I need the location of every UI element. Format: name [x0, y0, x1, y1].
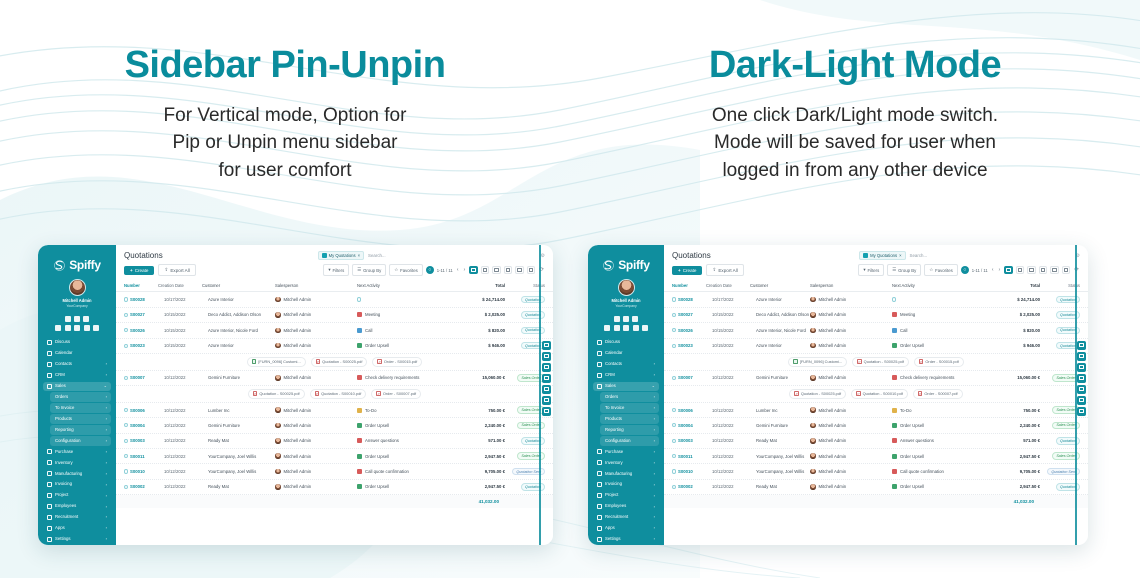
column-header-salesperson[interactable]: Salesperson — [810, 283, 892, 288]
table-row[interactable]: S00023 10/15/2022 Azure Interior Mitchel… — [664, 339, 1088, 354]
activity-view-icon[interactable] — [527, 266, 536, 274]
table-row[interactable]: S00007 10/12/2022 Gemini Furniture Mitch… — [116, 371, 553, 386]
filter-icon: ▾ — [863, 267, 865, 273]
cell-creation-date: 10/17/2022 — [712, 297, 756, 302]
attachment-chip[interactable]: P Order - S00015.pdf — [372, 357, 422, 367]
sidebar-item-crm[interactable]: CRM› — [43, 371, 111, 380]
next-activity-label: Check delivery requirements — [365, 375, 419, 380]
sidebar-item-project[interactable]: Project› — [43, 491, 111, 500]
sidebar-item-contacts[interactable]: Contacts› — [43, 360, 111, 369]
table-row[interactable]: S00028 10/17/2022 Azure Interior Mitchel… — [116, 292, 553, 307]
sidebar-item-recruitment[interactable]: Recruitment› — [593, 513, 659, 522]
cell-number[interactable]: S00003 — [678, 438, 712, 443]
cell-salesperson: Mitchell Admin — [275, 328, 357, 334]
invoicing-icon — [47, 482, 52, 487]
cell-number[interactable]: S00010 — [130, 469, 164, 474]
sidebar-item-manufacturing[interactable]: Manufacturing› — [593, 469, 659, 478]
salesperson-name: Mitchell Admin — [284, 343, 312, 348]
avatar — [810, 312, 816, 318]
table-row[interactable]: S00006 10/12/2022 Lumber Inc Mitchell Ad… — [664, 403, 1088, 418]
cell-status: Quotation — [1040, 296, 1080, 304]
home-icon[interactable] — [74, 316, 80, 322]
group-by-button[interactable]: ☰ Group By — [352, 264, 386, 276]
app-mockup-left: Spiffy Mitchell Admin YourCompany Discus… — [38, 245, 553, 545]
chevron-right-icon: › — [654, 372, 655, 378]
attachment-chip[interactable]: P Quotation - S00025.pdf — [789, 389, 846, 399]
search-area[interactable]: My Quotations × Search... — [318, 251, 386, 260]
cell-status: Sales Order — [1040, 452, 1080, 460]
sidebar-item-manufacturing[interactable]: Manufacturing› — [43, 469, 111, 478]
pager-toggle-button[interactable]: ○ — [961, 266, 969, 274]
pager-next-icon[interactable]: › — [463, 267, 467, 273]
avatar — [618, 279, 635, 296]
table-row[interactable]: S00011 10/12/2022 YourCompany, Joel Will… — [664, 449, 1088, 464]
apps-icon — [597, 526, 602, 531]
sidebar-item-to-invoice[interactable]: To Invoice› — [50, 403, 111, 412]
graph-view-icon[interactable] — [515, 266, 524, 274]
sidebar-item-recruitment[interactable]: Recruitment› — [43, 513, 111, 522]
print-rail-icon[interactable] — [1077, 374, 1086, 383]
user-company: YourCompany — [43, 304, 111, 309]
cell-total: $ 946.00 — [984, 343, 1040, 348]
salesperson-name: Mitchell Admin — [819, 312, 847, 317]
sidebar-item-orders[interactable]: Orders› — [600, 392, 659, 401]
quick-icons-row-1 — [593, 316, 659, 322]
salesperson-name: Mitchell Admin — [819, 328, 847, 333]
sidebar-item-project[interactable]: Project› — [593, 491, 659, 500]
apps-icon — [47, 526, 52, 531]
heading-block-left: Sidebar Pin-Unpin For Vertical mode, Opt… — [0, 0, 570, 215]
sidebar-item-invoicing[interactable]: Invoicing› — [43, 480, 111, 489]
avatar — [275, 375, 281, 381]
table-rail-icon[interactable] — [542, 385, 551, 394]
cell-status: Quotation — [1040, 342, 1080, 350]
attachment-chip[interactable]: P Quotation - S00025.pdf — [852, 357, 909, 367]
sidebar-item-purchase[interactable]: Purchase› — [593, 447, 659, 456]
attachment-chip[interactable]: P Order - S00007.pdf — [913, 389, 963, 399]
cell-next-activity: Order Upsell — [892, 423, 984, 428]
attachment-chip[interactable]: P Quotation - S00010.pdf — [851, 389, 908, 399]
next-activity-label: Order Upsell — [365, 423, 389, 428]
sidebar-item-to-invoice[interactable]: To Invoice› — [600, 403, 659, 412]
sidebar-item-configuration[interactable]: Configuration› — [50, 436, 111, 445]
quick-icons-row-2 — [593, 325, 659, 331]
table-row[interactable]: S00006 10/12/2022 Lumber Inc Mitchell Ad… — [116, 403, 553, 418]
avatar — [810, 407, 816, 413]
status-badge: Quotation — [521, 296, 545, 304]
chart-rail-icon[interactable] — [542, 407, 551, 416]
cell-salesperson: Mitchell Admin — [275, 343, 357, 349]
brand[interactable]: Spiffy — [43, 258, 111, 272]
table-row[interactable]: S00010 10/12/2022 YourCompany, Joel Will… — [664, 464, 1088, 479]
group-icon: ☰ — [892, 267, 896, 273]
cell-number[interactable]: S00026 — [678, 328, 712, 333]
cell-next-activity: Order Upsell — [357, 454, 449, 459]
export-all-button[interactable]: ⇪ Export All — [706, 264, 743, 276]
sidebar-item-label: To Invoice — [55, 405, 103, 411]
chevron-right-icon: › — [654, 427, 655, 433]
column-header-number[interactable]: Number — [124, 283, 158, 288]
favorites-button[interactable]: ☆ Favorites — [924, 264, 958, 276]
table-rail-icon[interactable] — [1077, 385, 1086, 394]
brand[interactable]: Spiffy — [593, 258, 659, 272]
salesperson-name: Mitchell Admin — [284, 438, 312, 443]
list-view-icon[interactable] — [469, 266, 478, 274]
cell-customer: Lumber Inc — [756, 408, 810, 413]
column-header-total[interactable]: Total — [984, 283, 1040, 288]
filters-button[interactable]: ▾ Filters — [858, 264, 884, 276]
sidebar-item-calendar[interactable]: Calendar — [593, 349, 659, 358]
cell-next-activity: Meeting — [892, 312, 984, 317]
cell-number[interactable]: S00011 — [678, 454, 712, 459]
sidebar-item-sales[interactable]: Sales⌄ — [43, 382, 111, 391]
phone-icon[interactable] — [65, 316, 71, 322]
favorites-button[interactable]: ☆ Favorites — [389, 264, 423, 276]
column-header-status[interactable]: Status — [1040, 283, 1080, 288]
sidebar-item-products[interactable]: Products› — [50, 414, 111, 423]
column-header-creation-date[interactable]: Creation Date — [158, 283, 202, 288]
avatar — [275, 328, 281, 334]
promo-page: Sidebar Pin-Unpin For Vertical mode, Opt… — [0, 0, 1140, 578]
sidebar-item-sales[interactable]: Sales⌄ — [593, 382, 659, 391]
export-all-button[interactable]: ⇪ Export All — [158, 264, 195, 276]
cell-creation-date: 10/12/2022 — [712, 454, 756, 459]
next-activity-label: Call quote confirmation — [900, 469, 944, 474]
sidebar-item-label: Manufacturing — [605, 471, 651, 477]
sidebar-item-reporting[interactable]: Reporting› — [600, 425, 659, 434]
next-activity-label: Answer questions — [900, 438, 934, 443]
map-pin-icon[interactable] — [623, 325, 629, 331]
upsell-icon — [357, 423, 362, 428]
table-row[interactable]: S00026 10/15/2022 Azure Interior, Nicole… — [116, 323, 553, 338]
cell-number[interactable]: S00007 — [678, 375, 712, 380]
cell-status: Sales Order — [1040, 374, 1080, 382]
table-row[interactable]: S00027 10/15/2022 Deco Addict, Addison O… — [664, 308, 1088, 323]
cell-creation-date: 10/12/2022 — [712, 375, 756, 380]
recruitment-icon — [47, 515, 52, 520]
table-body: S00028 10/17/2022 Azure Interior Mitchel… — [664, 292, 1088, 545]
attachment-chip[interactable]: P Order - S00015.pdf — [914, 357, 964, 367]
project-icon — [47, 493, 52, 498]
salesperson-name: Mitchell Admin — [284, 423, 312, 428]
print-rail-icon[interactable] — [542, 374, 551, 383]
activity-view-icon[interactable] — [1062, 266, 1071, 274]
cell-customer: YourCompany, Joel Willis — [208, 469, 275, 474]
cell-number[interactable]: S00002 — [678, 484, 712, 489]
upload-icon: ⇪ — [712, 267, 716, 273]
table-row[interactable]: S00010 10/12/2022 YourCompany, Joel Will… — [116, 464, 553, 479]
cell-next-activity: Call — [357, 328, 449, 333]
cell-total: 15,060.00 € — [449, 375, 505, 380]
salesperson-name: Mitchell Admin — [284, 328, 312, 333]
pager-toggle-button[interactable]: ○ — [426, 266, 434, 274]
export-all-label: Export All — [170, 268, 189, 273]
pager-prev-icon[interactable]: ‹ — [456, 267, 460, 273]
link-icon[interactable] — [55, 325, 61, 331]
settings-rail-icon[interactable] — [1077, 341, 1086, 350]
cell-number[interactable]: S00002 — [130, 484, 164, 489]
cell-next-activity: To-Do — [892, 408, 984, 413]
sidebar-item-label: Recruitment — [605, 514, 651, 520]
next-activity-label: Order Upsell — [900, 423, 924, 428]
bulb-icon[interactable] — [642, 325, 648, 331]
cell-salesperson: Mitchell Admin — [275, 484, 357, 490]
sidebar-item-crm[interactable]: CRM› — [593, 371, 659, 380]
sidebar-item-products[interactable]: Products› — [600, 414, 659, 423]
chevron-right-icon: › — [106, 361, 107, 367]
column-header-number[interactable]: Number — [672, 283, 706, 288]
column-header-salesperson[interactable]: Salesperson — [275, 283, 357, 288]
table-row[interactable]: S00004 10/12/2022 Gemini Furniture Mitch… — [116, 418, 553, 433]
calendar-view-icon[interactable] — [492, 266, 501, 274]
cell-number[interactable]: S00010 — [678, 469, 712, 474]
table-row[interactable]: S00004 10/12/2022 Gemini Furniture Mitch… — [664, 418, 1088, 433]
upsell-icon — [357, 343, 362, 348]
cell-salesperson: Mitchell Admin — [275, 423, 357, 429]
column-header-customer[interactable]: Customer — [750, 283, 810, 288]
user-profile[interactable]: Mitchell Admin YourCompany — [593, 279, 659, 309]
settings-rail-icon[interactable] — [542, 341, 551, 350]
table-row[interactable]: S00002 10/12/2022 Ready Mat Mitchell Adm… — [116, 480, 553, 495]
gear-icon — [47, 537, 52, 542]
graph-view-icon[interactable] — [1050, 266, 1059, 274]
cell-salesperson: Mitchell Admin — [810, 312, 892, 318]
attachment-label: Quotation - S00025.pdf — [322, 359, 362, 364]
kanban-view-icon[interactable] — [1016, 266, 1025, 274]
cell-number[interactable]: S00028 — [678, 297, 712, 302]
column-header-customer[interactable]: Customer — [202, 283, 275, 288]
sidebar-item-calendar[interactable]: Calendar — [43, 349, 111, 358]
attachment-chip[interactable]: P Order - S00007.pdf — [371, 389, 421, 399]
sidebar-item-apps[interactable]: Apps› — [43, 524, 111, 533]
cell-number[interactable]: S00026 — [130, 328, 164, 333]
table-header: Number Creation Date Customer Salesperso… — [116, 280, 553, 292]
sidebar-item-contacts[interactable]: Contacts› — [593, 360, 659, 369]
checklist-icon — [892, 375, 897, 380]
purchase-icon — [597, 449, 602, 454]
next-activity-label: Order Upsell — [900, 484, 924, 489]
sidebar-item-purchase[interactable]: Purchase› — [43, 447, 111, 456]
cell-creation-date: 10/15/2022 — [164, 328, 208, 333]
list-view-icon[interactable] — [1004, 266, 1013, 274]
cell-total: 571.00 € — [449, 438, 505, 443]
manufacturing-icon — [47, 471, 52, 476]
calendar-icon[interactable] — [632, 316, 638, 322]
quick-icons-row-2 — [43, 325, 111, 331]
page-title-left: Sidebar Pin-Unpin — [0, 44, 570, 88]
sidebar-item-label: CRM — [55, 372, 103, 378]
close-icon[interactable]: × — [358, 253, 360, 258]
search-input[interactable]: Search... — [368, 253, 386, 258]
sidebar-item-reporting[interactable]: Reporting› — [50, 425, 111, 434]
rail-divider — [539, 245, 541, 545]
phone-icon[interactable] — [614, 316, 620, 322]
sidebar-item-settings[interactable]: Settings› — [593, 535, 659, 544]
cell-salesperson: Mitchell Admin — [810, 297, 892, 303]
upsell-icon — [892, 484, 897, 489]
attachment-chip[interactable]: P Quotation - S00010.pdf — [310, 389, 367, 399]
main-content: Quotations My Quotations × Search... ⚙ +… — [664, 245, 1088, 545]
cell-salesperson: Mitchell Admin — [810, 343, 892, 349]
salesperson-name: Mitchell Admin — [284, 454, 312, 459]
pivot-view-icon[interactable] — [504, 266, 513, 274]
salesperson-name: Mitchell Admin — [819, 423, 847, 428]
chevron-right-icon: › — [106, 525, 107, 531]
lock-icon[interactable] — [633, 325, 639, 331]
pdf-file-icon: P — [253, 391, 258, 396]
note-rail-icon[interactable] — [542, 396, 551, 405]
search-facet-my-quotations[interactable]: My Quotations × — [318, 251, 364, 260]
clock-rail-icon[interactable] — [542, 352, 551, 361]
plus-icon: + — [130, 268, 133, 273]
user-profile[interactable]: Mitchell Admin YourCompany — [43, 279, 111, 309]
footer-total: 41,032.00 — [479, 499, 545, 504]
link-icon[interactable] — [604, 325, 610, 331]
table-row[interactable]: S00011 10/12/2022 YourCompany, Joel Will… — [116, 449, 553, 464]
next-activity-label: Call quote confirmation — [365, 469, 409, 474]
column-header-total[interactable]: Total — [449, 283, 505, 288]
create-button[interactable]: + Create — [672, 266, 702, 275]
filters-button[interactable]: ▾ Filters — [323, 264, 349, 276]
attachment-row: [FURN_0096] Customi... P Quotation - S00… — [116, 354, 553, 371]
spreadsheet-file-icon — [793, 359, 798, 364]
avatar — [275, 407, 281, 413]
sidebar-item-configuration[interactable]: Configuration› — [600, 436, 659, 445]
table-row[interactable]: S00028 10/17/2022 Azure Interior Mitchel… — [664, 292, 1088, 307]
pager-prev-icon[interactable]: ‹ — [991, 267, 995, 273]
next-activity-label: Meeting — [900, 312, 915, 317]
cell-creation-date: 10/15/2022 — [712, 312, 756, 317]
sidebar-item-discuss[interactable]: Discuss — [43, 338, 111, 347]
pdf-file-icon: P — [794, 391, 799, 396]
cell-number[interactable]: S00004 — [130, 423, 164, 428]
sidebar-item-inventory[interactable]: Inventory› — [43, 458, 111, 467]
cell-number[interactable]: S00028 — [130, 297, 164, 302]
cell-number[interactable]: S00027 — [678, 312, 712, 317]
bulb-icon[interactable] — [93, 325, 99, 331]
pdf-file-icon: P — [377, 359, 382, 364]
map-pin-icon[interactable] — [74, 325, 80, 331]
calendar-icon — [597, 351, 602, 356]
search-input[interactable]: Search... — [910, 253, 928, 258]
attachment-chip[interactable]: [FURN_0096] Customi... — [247, 357, 306, 367]
sidebar-item-label: Reporting — [605, 427, 651, 433]
cell-customer: Gemini Furniture — [208, 375, 275, 380]
group-by-button[interactable]: ☰ Group By — [887, 264, 921, 276]
calendar-view-icon[interactable] — [1027, 266, 1036, 274]
grid-rail-icon[interactable] — [1077, 363, 1086, 372]
sidebar-item-orders[interactable]: Orders› — [50, 392, 111, 401]
cell-number[interactable]: S00023 — [678, 343, 712, 348]
pager-next-icon[interactable]: › — [998, 267, 1002, 273]
close-icon[interactable]: × — [899, 253, 901, 258]
chevron-right-icon: › — [106, 460, 107, 466]
pivot-view-icon[interactable] — [1039, 266, 1048, 274]
table-row[interactable]: S00023 10/15/2022 Azure Interior Mitchel… — [116, 339, 553, 354]
sidebar-item-invoicing[interactable]: Invoicing› — [593, 480, 659, 489]
table-row[interactable]: S00026 10/15/2022 Azure Interior, Nicole… — [664, 323, 1088, 338]
note-rail-icon[interactable] — [1077, 396, 1086, 405]
table-row[interactable]: S00003 10/12/2022 Ready Mat Mitchell Adm… — [664, 434, 1088, 449]
column-header-next-activity[interactable]: Next Activity — [892, 283, 984, 288]
cell-number[interactable]: S00023 — [130, 343, 164, 348]
pager-text: 1-11 / 11 — [972, 268, 988, 273]
table-row[interactable]: S00003 10/12/2022 Ready Mat Mitchell Adm… — [116, 434, 553, 449]
chevron-right-icon: › — [654, 504, 655, 510]
clock-rail-icon[interactable] — [1077, 352, 1086, 361]
table-row[interactable]: S00027 10/15/2022 Deco Addict, Addison O… — [116, 308, 553, 323]
cell-number[interactable]: S00027 — [130, 312, 164, 317]
sidebar-item-settings[interactable]: Settings› — [43, 535, 111, 544]
sidebar-item-discuss[interactable]: Discuss — [593, 338, 659, 347]
cell-customer: Lumber Inc — [208, 408, 275, 413]
search-area[interactable]: My Quotations × Search... — [859, 251, 927, 260]
subtitle-left-line-3: for user comfort — [0, 157, 570, 185]
employees-icon — [47, 504, 52, 509]
cell-number[interactable]: S00011 — [130, 454, 164, 459]
avatar — [810, 438, 816, 444]
cell-creation-date: 10/15/2022 — [164, 312, 208, 317]
create-button[interactable]: + Create — [124, 266, 154, 275]
home-icon[interactable] — [623, 316, 629, 322]
side-action-rail — [542, 341, 551, 416]
search-facet-my-quotations[interactable]: My Quotations × — [859, 251, 905, 260]
kanban-view-icon[interactable] — [481, 266, 490, 274]
sidebar-item-inventory[interactable]: Inventory› — [593, 458, 659, 467]
link-alt-icon[interactable] — [614, 325, 620, 331]
search-facet-label: My Quotations — [329, 253, 356, 258]
link-alt-icon[interactable] — [65, 325, 71, 331]
chevron-right-icon: › — [654, 449, 655, 455]
toolbar: Quotations My Quotations × Search... ⚙ +… — [664, 245, 1088, 280]
attachment-chip[interactable]: P Quotation - S00025.pdf — [311, 357, 368, 367]
table-row[interactable]: S00002 10/12/2022 Ready Mat Mitchell Adm… — [664, 480, 1088, 495]
salesperson-name: Mitchell Admin — [284, 375, 312, 380]
quick-icons-row-1 — [43, 316, 111, 322]
calendar-icon[interactable] — [83, 316, 89, 322]
gear-icon[interactable]: ⚙ — [541, 253, 545, 259]
column-header-creation-date[interactable]: Creation Date — [706, 283, 750, 288]
sidebar-item-apps[interactable]: Apps› — [593, 524, 659, 533]
attachment-chip[interactable]: [FURN_0096] Customi... — [788, 357, 847, 367]
attachment-chip[interactable]: P Quotation - S00025.pdf — [248, 389, 305, 399]
sidebar-item-employees[interactable]: Employees› — [593, 502, 659, 511]
avatar — [275, 453, 281, 459]
cell-number[interactable]: S00006 — [130, 408, 164, 413]
upsell-icon — [892, 423, 897, 428]
cell-salesperson: Mitchell Admin — [275, 297, 357, 303]
lock-icon[interactable] — [84, 325, 90, 331]
cell-total: 9,705.00 € — [984, 469, 1040, 474]
cell-number[interactable]: S00006 — [678, 408, 712, 413]
table-footer: 41,032.00 — [116, 495, 553, 508]
attachment-row: [FURN_0096] Customi... P Quotation - S00… — [664, 354, 1088, 371]
column-header-next-activity[interactable]: Next Activity — [357, 283, 449, 288]
cell-customer: Gemini Furniture — [756, 375, 810, 380]
cell-number[interactable]: S00004 — [678, 423, 712, 428]
cell-number[interactable]: S00003 — [130, 438, 164, 443]
grid-rail-icon[interactable] — [542, 363, 551, 372]
chart-rail-icon[interactable] — [1077, 407, 1086, 416]
page-title-right: Dark-Light Mode — [570, 44, 1140, 88]
sidebar-item-employees[interactable]: Employees› — [43, 502, 111, 511]
chevron-right-icon: › — [654, 514, 655, 520]
upsell-icon — [892, 343, 897, 348]
table-row[interactable]: S00007 10/12/2022 Gemini Furniture Mitch… — [664, 371, 1088, 386]
cell-number[interactable]: S00007 — [130, 375, 164, 380]
create-button-label: Create — [683, 268, 697, 273]
next-activity-label: Order Upsell — [365, 343, 389, 348]
